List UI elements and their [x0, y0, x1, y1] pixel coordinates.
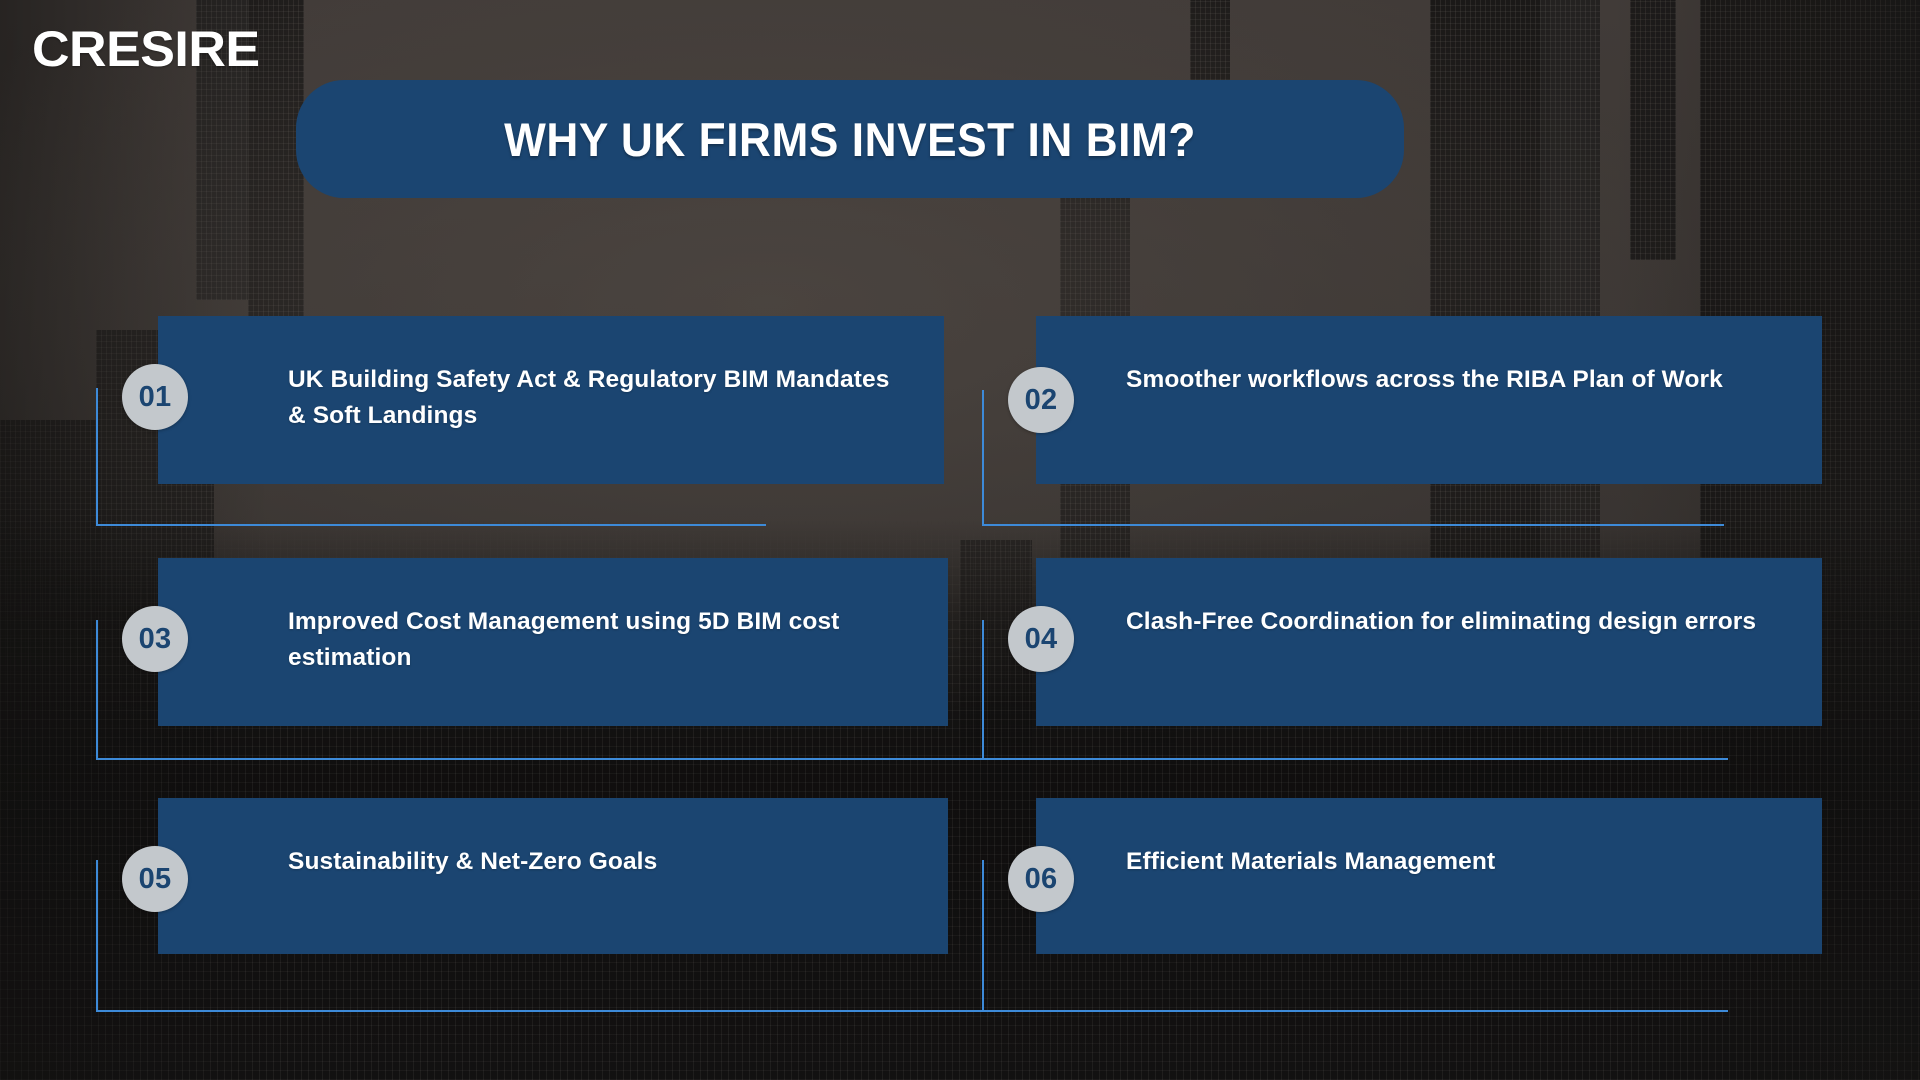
logo-text: CRESIRE	[32, 20, 260, 78]
number-label: 02	[1025, 384, 1058, 417]
info-card-number-04: 04	[1008, 606, 1074, 672]
info-card-05[interactable]: Sustainability & Net-Zero Goals	[158, 798, 948, 954]
info-card-text: Smoother workflows across the RIBA Plan …	[1126, 362, 1723, 398]
info-card-number-02: 02	[1008, 367, 1074, 433]
info-card-number-01: 01	[122, 364, 188, 430]
info-card-text: UK Building Safety Act & Regulatory BIM …	[288, 362, 904, 434]
brand-logo[interactable]: CRESIRE	[32, 20, 251, 78]
page-title: WHY UK FIRMS INVEST IN BIM?	[504, 112, 1196, 167]
info-card-04[interactable]: Clash-Free Coordination for eliminating …	[1036, 558, 1822, 726]
title-banner: WHY UK FIRMS INVEST IN BIM?	[296, 80, 1404, 198]
number-label: 05	[139, 863, 172, 896]
info-card-01[interactable]: UK Building Safety Act & Regulatory BIM …	[158, 316, 944, 484]
info-card-text: Sustainability & Net-Zero Goals	[288, 844, 657, 880]
info-card-number-05: 05	[122, 846, 188, 912]
number-label: 06	[1025, 863, 1058, 896]
number-label: 04	[1025, 623, 1058, 656]
info-card-02[interactable]: Smoother workflows across the RIBA Plan …	[1036, 316, 1822, 484]
info-card-number-06: 06	[1008, 846, 1074, 912]
info-card-03[interactable]: Improved Cost Management using 5D BIM co…	[158, 558, 948, 726]
info-card-06[interactable]: Efficient Materials Management	[1036, 798, 1822, 954]
number-label: 03	[139, 623, 172, 656]
infographic-slide: CRESIRE WHY UK FIRMS INVEST IN BIM? UK B…	[0, 0, 1920, 1080]
info-card-text: Clash-Free Coordination for eliminating …	[1126, 604, 1756, 640]
info-card-number-03: 03	[122, 606, 188, 672]
number-label: 01	[139, 381, 172, 414]
info-card-text: Improved Cost Management using 5D BIM co…	[288, 604, 912, 676]
info-card-text: Efficient Materials Management	[1126, 844, 1495, 880]
